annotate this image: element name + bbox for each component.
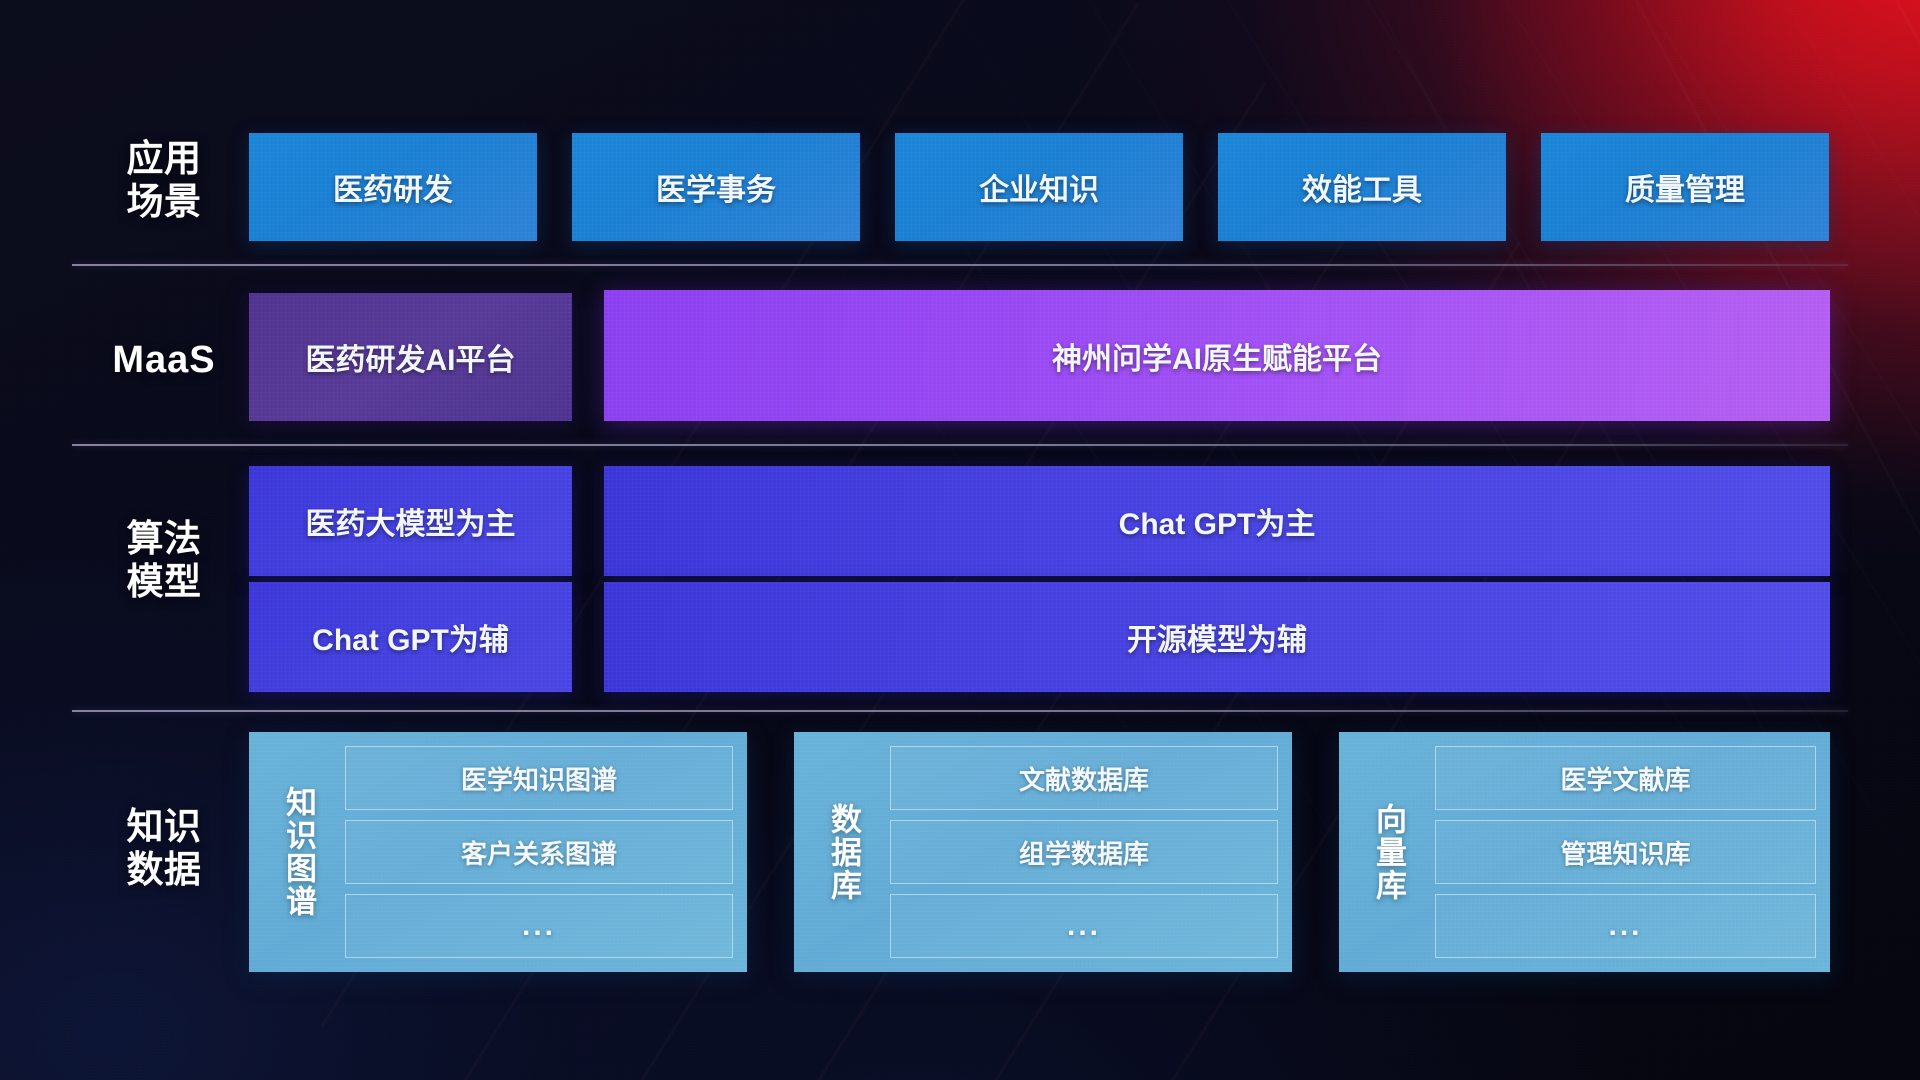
app-box-drug-rd[interactable]: 医药研发 <box>249 133 537 241</box>
divider-3 <box>72 710 1848 712</box>
tier-label-application-scenarios: 应用 场景 <box>78 138 250 224</box>
knowledge-panel-items: 文献数据库 组学数据库 ... <box>878 746 1278 958</box>
knowledge-panel-knowledge-graph[interactable]: 知识图谱 医学知识图谱 客户关系图谱 ... <box>249 732 747 972</box>
tier-label-line2: 模型 <box>78 561 250 604</box>
architecture-diagram: 应用 场景 医药研发 医学事务 企业知识 效能工具 质量管理 MaaS 医药研发… <box>0 0 1920 1080</box>
knowledge-panel-items: 医学文献库 管理知识库 ... <box>1423 746 1816 958</box>
knowledge-item-customer-relation-graph[interactable]: 客户关系图谱 <box>345 820 733 884</box>
knowledge-item-literature-database[interactable]: 文献数据库 <box>890 746 1278 810</box>
knowledge-panel-database[interactable]: 数据库 文献数据库 组学数据库 ... <box>794 732 1292 972</box>
tier-label-maas: MaaS <box>78 338 250 382</box>
knowledge-item-more[interactable]: ... <box>890 894 1278 958</box>
knowledge-item-omics-database[interactable]: 组学数据库 <box>890 820 1278 884</box>
app-box-enterprise-knowledge[interactable]: 企业知识 <box>895 133 1183 241</box>
app-box-medical-affairs[interactable]: 医学事务 <box>572 133 860 241</box>
knowledge-item-more[interactable]: ... <box>345 894 733 958</box>
tier-label-line1: 知识 <box>78 806 250 849</box>
knowledge-item-more[interactable]: ... <box>1435 894 1816 958</box>
knowledge-item-management-knowledge-store[interactable]: 管理知识库 <box>1435 820 1816 884</box>
algo-box-chatgpt-auxiliary[interactable]: Chat GPT为辅 <box>249 582 572 692</box>
tier-label-knowledge-data: 知识 数据 <box>78 806 250 892</box>
algo-box-opensource-auxiliary[interactable]: 开源模型为辅 <box>604 582 1830 692</box>
tier-label-algorithm-model: 算法 模型 <box>78 518 250 604</box>
knowledge-panel-vector-store[interactable]: 向量库 医学文献库 管理知识库 ... <box>1339 732 1830 972</box>
knowledge-panel-title: 向量库 <box>1353 746 1423 958</box>
knowledge-item-medical-knowledge-graph[interactable]: 医学知识图谱 <box>345 746 733 810</box>
app-box-efficiency-tools[interactable]: 效能工具 <box>1218 133 1506 241</box>
maas-box-shenzhou-wenxue-platform[interactable]: 神州问学AI原生赋能平台 <box>604 290 1830 421</box>
divider-2 <box>72 444 1848 446</box>
tier-label-line2: 数据 <box>78 849 250 892</box>
knowledge-item-medical-literature-store[interactable]: 医学文献库 <box>1435 746 1816 810</box>
knowledge-panel-title: 知识图谱 <box>263 746 333 958</box>
tier-label-line1: 应用 <box>78 138 250 181</box>
tier-label-line1: 算法 <box>78 518 250 561</box>
app-box-quality-management[interactable]: 质量管理 <box>1541 133 1829 241</box>
divider-1 <box>72 264 1848 266</box>
algo-box-drug-llm-primary[interactable]: 医药大模型为主 <box>249 466 572 576</box>
knowledge-panel-items: 医学知识图谱 客户关系图谱 ... <box>333 746 733 958</box>
knowledge-panel-title: 数据库 <box>808 746 878 958</box>
algo-box-chatgpt-primary[interactable]: Chat GPT为主 <box>604 466 1830 576</box>
tier-label-line2: 场景 <box>78 181 250 224</box>
maas-box-drug-rd-ai-platform[interactable]: 医药研发AI平台 <box>249 293 572 421</box>
